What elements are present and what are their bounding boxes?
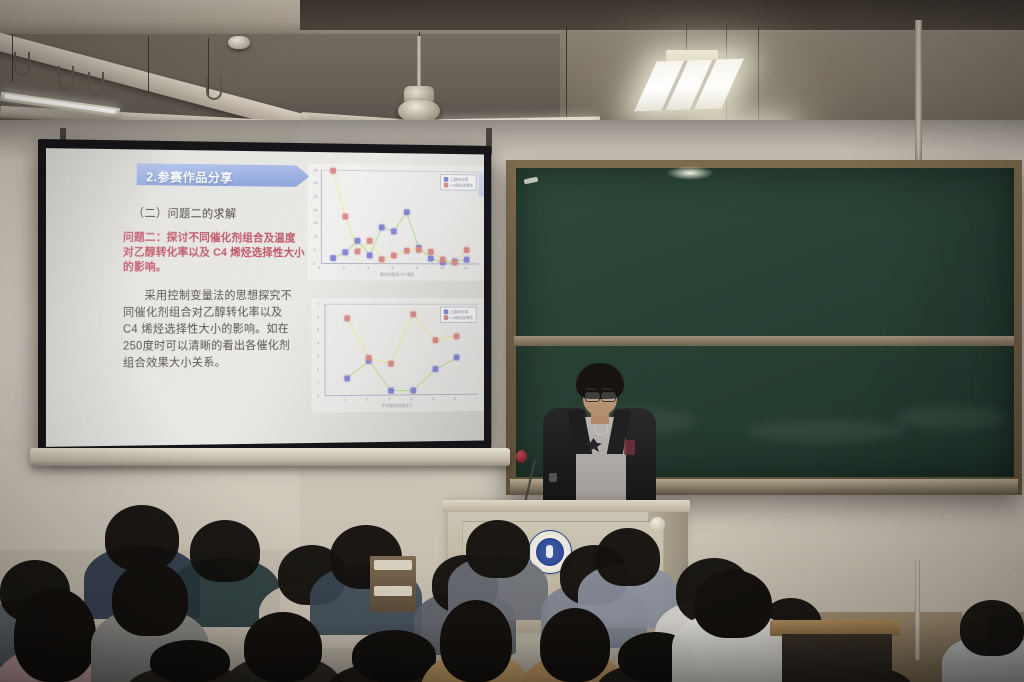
data-point [416,247,422,253]
chair-slat [374,586,412,596]
slide-paragraph: 采用控制变量法的思想探究不同催化剂组合对乙醇转化率以及 C4 烯烃选择性大小的影… [123,288,298,372]
audience-member-head [466,520,530,578]
chart-bottom-plot: 12345601234567不同催化剂组合下乙醇转化率C4烯烃选择性 [311,298,484,413]
data-point [343,214,349,220]
chair-slat [374,560,412,570]
ceiling-hook [58,66,74,90]
wall-pipe [915,20,922,160]
legend-label: C4烯烃选择性 [450,182,473,188]
data-point [343,249,349,255]
data-point [410,388,416,394]
audience-member-head [190,520,260,582]
presentation-slide: 2.参赛作品分享 （二）问题二的求解 问题二：探讨不同催化剂组合及温度对乙醇转化… [88,149,484,447]
data-point [404,209,410,215]
data-point [452,260,458,266]
data-point [344,315,350,321]
data-point [404,248,410,254]
data-point [379,224,385,230]
ceiling-hook [88,72,104,96]
legend-swatch [444,177,449,182]
smoke-detector-icon [228,36,250,49]
data-point [410,311,416,317]
data-point [440,256,446,262]
legend-label: C4烯烃选择性 [450,315,473,321]
glasses-icon [585,392,600,402]
data-point [366,355,372,361]
data-point [428,255,434,261]
ceiling-hook [14,52,30,76]
podium-knob[interactable] [650,517,665,532]
chalk-smudge [896,406,1006,430]
microphone-icon[interactable] [516,450,527,463]
audience-shadow [0,620,1024,682]
data-point [355,248,361,254]
hanging-wire [12,34,13,82]
presenter-hair [576,363,624,399]
audience-member-head [596,528,660,586]
legend-swatch [444,183,449,188]
audience-member-head [105,505,179,571]
data-point [330,255,336,261]
data-point [344,375,350,381]
chart-legend: 乙醇转化率C4烯烃选择性 [440,307,477,323]
data-point [391,229,397,235]
legend-item: C4烯烃选择性 [444,182,473,188]
projector-screen[interactable]: 2.参赛作品分享 （二）问题二的求解 问题二：探讨不同催化剂组合及温度对乙醇转化… [38,139,491,455]
data-point [367,252,373,258]
legend-swatch [444,309,449,314]
chart-bottom: 12345601234567不同催化剂组合下乙醇转化率C4烯烃选择性 [311,298,484,413]
legend-item: C4烯烃选择性 [444,315,473,321]
data-point [355,238,361,244]
slide-section-heading: （二）问题二的求解 [133,205,237,222]
presenter-zipper-pull [549,473,557,482]
data-point [391,253,397,259]
chalk-piece[interactable] [524,177,539,185]
presenter-eyebrow [586,388,597,390]
chart-top-plot: 02468101205101520253035催化剂组合 C4 烯烃乙醇转化率C… [308,164,484,281]
slide-title: 2.参赛作品分享 [146,166,232,186]
legend-swatch [444,315,449,320]
data-point [379,256,385,262]
data-point [367,238,373,244]
data-point [454,333,460,339]
presenter-sleeve-patch [624,440,635,455]
data-point [454,355,460,361]
presenter-eyebrow [602,388,613,390]
data-point [388,388,394,394]
slide-highlight-text: 问题二：探讨不同催化剂组合及温度对乙醇转化率以及 C4 烯烃选择性大小的影响。 [123,231,306,276]
hanging-wire [566,26,567,122]
lecture-hall-scene: 2.参赛作品分享 （二）问题二的求解 问题二：探讨不同催化剂组合及温度对乙醇转化… [0,0,1024,682]
blackboard-divider [514,336,1014,346]
data-point [330,168,336,174]
chart-top: 02468101205101520253035催化剂组合 C4 烯烃乙醇转化率C… [308,164,484,281]
blackboard-glare [666,166,714,180]
glasses-icon [601,392,616,402]
chart-legend: 乙醇转化率C4烯烃选择性 [440,174,477,191]
slide-title-banner: 2.参赛作品分享 [137,163,310,187]
ceiling-hook [206,76,222,100]
chalk-smudge [746,420,906,442]
data-point [432,337,438,343]
data-point [388,360,394,366]
screen-surface: 2.参赛作品分享 （二）问题二的求解 问题二：探讨不同催化剂组合及温度对乙醇转化… [46,148,484,447]
data-point [428,249,434,255]
ceiling-fan-rod [417,36,421,88]
data-point [464,247,469,253]
ceiling-fan-motor [398,100,440,122]
screen-roller-housing[interactable] [30,448,510,466]
data-point [464,257,469,263]
podium-desktop [442,500,690,512]
hanging-wire [148,36,149,92]
data-point [432,367,438,373]
